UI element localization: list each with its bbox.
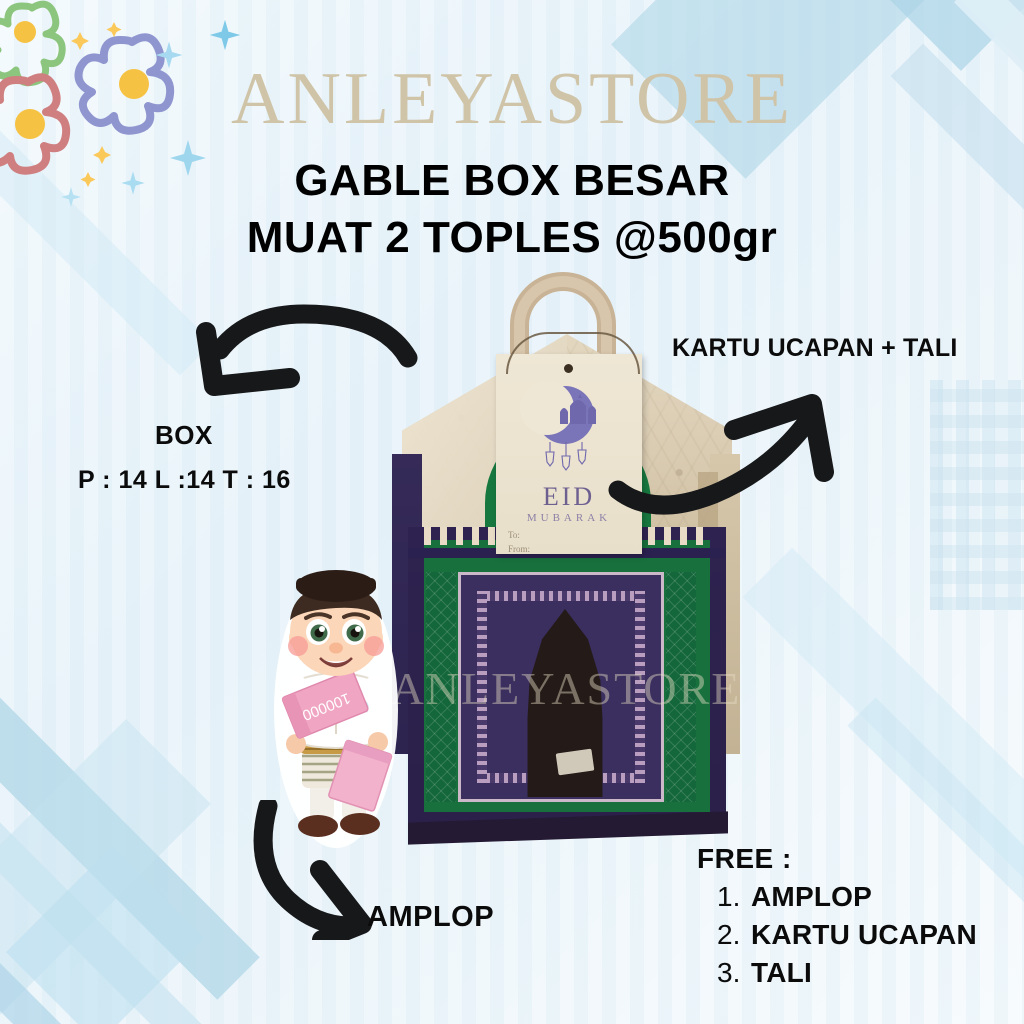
hanging-lanterns-icon bbox=[538, 442, 598, 476]
annotation-box-label: BOX bbox=[155, 420, 213, 451]
free-item-label: AMPLOP bbox=[751, 881, 872, 913]
sparkle-star-icon-3 bbox=[208, 18, 242, 52]
flower-green-center bbox=[14, 21, 36, 43]
annotation-box-dimensions: P : 14 L :14 T : 16 bbox=[78, 466, 291, 495]
free-item-number: 2. bbox=[717, 919, 751, 951]
tag-to-line: To: bbox=[508, 530, 520, 540]
box-panel-right-texture bbox=[666, 572, 696, 802]
ribbon-right-checker bbox=[930, 380, 1024, 610]
product-headline-line2: MUAT 2 TOPLES @500gr bbox=[0, 215, 1024, 261]
free-item-label: TALI bbox=[751, 957, 812, 989]
free-item-number: 1. bbox=[717, 881, 751, 913]
free-list-item: 2. KARTU UCAPAN bbox=[697, 919, 977, 951]
free-list-item: 3. TALI bbox=[697, 957, 977, 989]
annotation-card-label: KARTU UCAPAN + TALI bbox=[672, 334, 958, 363]
store-brand-title: ANLEYASTORE bbox=[0, 62, 1024, 136]
annotation-envelope-label: AMPLOP bbox=[367, 901, 494, 934]
arrow-to-box bbox=[186, 300, 426, 420]
product-listing-image: ANLEYASTORE GABLE BOX BESAR MUAT 2 TOPLE… bbox=[0, 0, 1024, 1024]
box-arch-window-frame bbox=[458, 572, 664, 802]
free-item-number: 3. bbox=[717, 957, 751, 989]
tag-hole bbox=[564, 364, 573, 373]
tag-from-line: From: bbox=[508, 544, 530, 554]
free-list-item: 1. AMPLOP bbox=[697, 881, 977, 913]
free-items-section: FREE : 1. AMPLOP 2. KARTU UCAPAN 3. TALI bbox=[697, 843, 977, 989]
free-item-label: KARTU UCAPAN bbox=[751, 919, 977, 951]
arrow-to-card bbox=[596, 368, 846, 518]
product-headline-line1: GABLE BOX BESAR bbox=[0, 158, 1024, 204]
free-section-title: FREE : bbox=[697, 843, 977, 875]
box-panel-left-texture bbox=[426, 572, 456, 802]
